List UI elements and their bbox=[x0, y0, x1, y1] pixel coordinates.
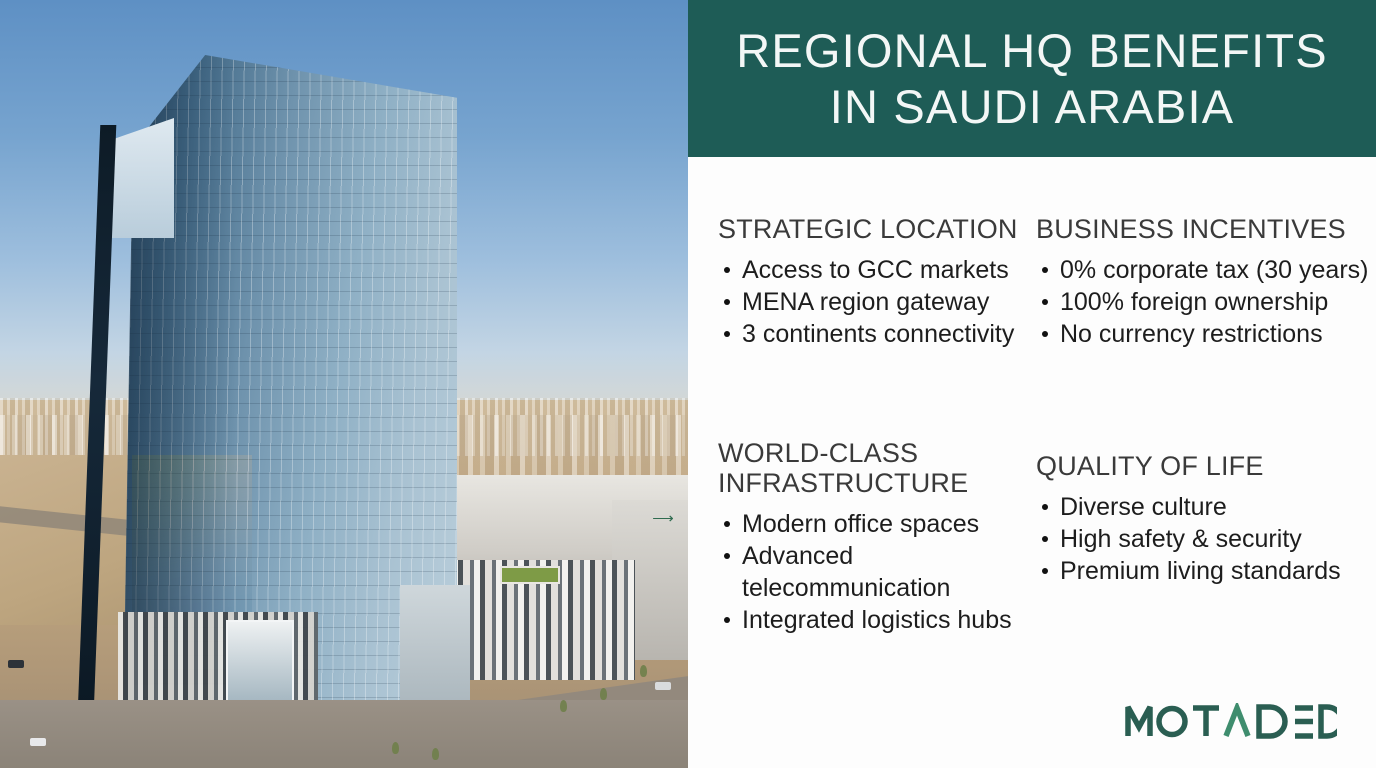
list-item-label: Access to GCC markets bbox=[742, 256, 1009, 284]
list-item-label: Advanced telecommunication bbox=[742, 542, 950, 602]
tree bbox=[600, 688, 607, 700]
hero-photo: ⟶ bbox=[0, 0, 688, 768]
list-item-label: MENA region gateway bbox=[742, 288, 989, 316]
benefit-list: Diverse culture High safety & security P… bbox=[1036, 491, 1376, 587]
bullet-icon bbox=[1042, 331, 1048, 337]
page-title: Regional HQ Benefitsin Saudi Arabia bbox=[736, 27, 1328, 130]
bullet-icon bbox=[724, 521, 730, 527]
car bbox=[30, 738, 46, 746]
list-item-label: Diverse culture bbox=[1060, 493, 1227, 521]
list-item: 100% foreign ownership bbox=[1036, 286, 1376, 318]
benefit-heading: World-Class Infrastructure bbox=[718, 438, 1048, 498]
benefit-list: Modern office spaces Advanced telecommun… bbox=[718, 508, 1048, 636]
bullet-icon bbox=[724, 267, 730, 273]
bullet-icon bbox=[724, 299, 730, 305]
list-item-label: Modern office spaces bbox=[742, 510, 979, 538]
green-rooftop bbox=[500, 566, 560, 584]
content-panel: Regional HQ Benefitsin Saudi Arabia Stra… bbox=[688, 0, 1376, 768]
benefits-grid: Strategic Location Access to GCC markets… bbox=[688, 157, 1376, 768]
list-item: Premium living standards bbox=[1036, 555, 1376, 587]
benefit-block-quality-of-life: Quality of Life Diverse culture High saf… bbox=[1028, 395, 1376, 645]
list-item-label: Premium living standards bbox=[1060, 557, 1341, 585]
list-item: Advanced telecommunication bbox=[718, 540, 1048, 604]
list-item: Integrated logistics hubs bbox=[718, 604, 1048, 636]
page-title-line-2: in Saudi Arabia bbox=[736, 83, 1328, 130]
list-item: Diverse culture bbox=[1036, 491, 1376, 523]
motaded-logo bbox=[1125, 703, 1337, 739]
slide: ⟶ Regional HQ Benefitsin Saudi Arabia bbox=[0, 0, 1376, 768]
tree bbox=[560, 700, 567, 712]
benefit-heading: Quality of Life bbox=[1036, 451, 1376, 481]
list-item: 0% corporate tax (30 years) bbox=[1036, 254, 1376, 286]
benefit-block-world-class-infrastructure: World-Class Infrastructure Modern office… bbox=[688, 395, 1028, 645]
list-item-label: High safety & security bbox=[1060, 525, 1302, 553]
list-item-label: 0% corporate tax (30 years) bbox=[1060, 256, 1368, 284]
falcon-logo-icon: ⟶ bbox=[650, 512, 676, 526]
benefit-list: 0% corporate tax (30 years) 100% foreign… bbox=[1036, 254, 1376, 350]
bullet-icon bbox=[1042, 299, 1048, 305]
bullet-icon bbox=[1042, 267, 1048, 273]
tree bbox=[392, 742, 399, 754]
benefit-block-business-incentives: Business Incentives 0% corporate tax (30… bbox=[1028, 157, 1376, 395]
list-item: MENA region gateway bbox=[718, 286, 1028, 318]
list-item-label: No currency restrictions bbox=[1060, 320, 1323, 348]
bullet-icon bbox=[724, 553, 730, 559]
bullet-icon bbox=[1042, 504, 1048, 510]
bullet-icon bbox=[1042, 536, 1048, 542]
list-item-label: Integrated logistics hubs bbox=[742, 606, 1012, 634]
road-bottom bbox=[0, 700, 688, 768]
page-title-line-1: Regional HQ Benefits bbox=[736, 24, 1328, 77]
benefit-block-strategic-location: Strategic Location Access to GCC markets… bbox=[688, 157, 1028, 395]
tree bbox=[640, 665, 647, 677]
list-item: No currency restrictions bbox=[1036, 318, 1376, 350]
list-item-label: 100% foreign ownership bbox=[1060, 288, 1328, 316]
tower-entrance bbox=[226, 620, 294, 710]
list-item: Access to GCC markets bbox=[718, 254, 1028, 286]
car bbox=[8, 660, 24, 668]
motaded-logo-icon bbox=[1125, 703, 1337, 739]
bullet-icon bbox=[724, 331, 730, 337]
tree bbox=[432, 748, 439, 760]
benefit-list: Access to GCC markets MENA region gatewa… bbox=[718, 254, 1028, 350]
benefit-heading: Business Incentives bbox=[1036, 214, 1376, 244]
benefit-heading: Strategic Location bbox=[718, 214, 1028, 244]
slide-header: Regional HQ Benefitsin Saudi Arabia bbox=[688, 0, 1376, 157]
list-item: Modern office spaces bbox=[718, 508, 1048, 540]
bullet-icon bbox=[1042, 568, 1048, 574]
list-item: High safety & security bbox=[1036, 523, 1376, 555]
list-item-label: 3 continents connectivity bbox=[742, 320, 1014, 348]
bullet-icon bbox=[724, 617, 730, 623]
list-item: 3 continents connectivity bbox=[718, 318, 1028, 350]
car bbox=[655, 682, 671, 690]
